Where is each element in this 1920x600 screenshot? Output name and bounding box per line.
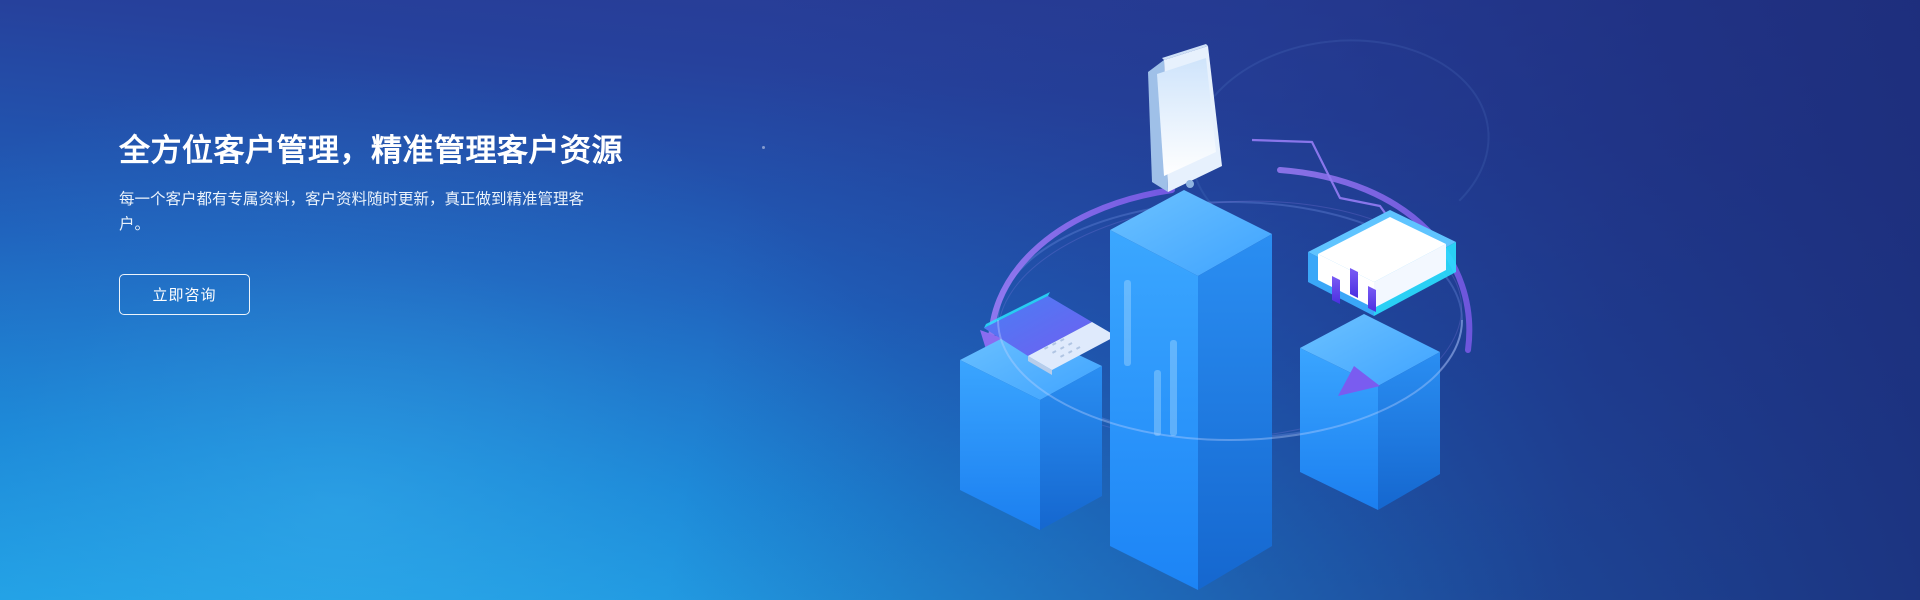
right-pillar xyxy=(1300,314,1440,510)
hero-banner: 全方位客户管理，精准管理客户资源 每一个客户都有专属资料，客户资料随时更新，真正… xyxy=(0,0,1920,600)
hero-subtitle: 每一个客户都有专属资料，客户资料随时更新，真正做到精准管理客户。 xyxy=(119,187,599,237)
hero-illustration xyxy=(940,30,1500,590)
background-speck-decoration xyxy=(762,146,765,149)
hero-copy-block: 全方位客户管理，精准管理客户资源 每一个客户都有专属资料，客户资料随时更新，真正… xyxy=(119,132,739,315)
tablet-icon xyxy=(1148,44,1222,192)
monitor-chart-icon xyxy=(1308,210,1456,316)
page-title: 全方位客户管理，精准管理客户资源 xyxy=(119,132,739,169)
center-pillar xyxy=(1110,190,1272,590)
consult-now-button[interactable]: 立即咨询 xyxy=(119,274,250,315)
